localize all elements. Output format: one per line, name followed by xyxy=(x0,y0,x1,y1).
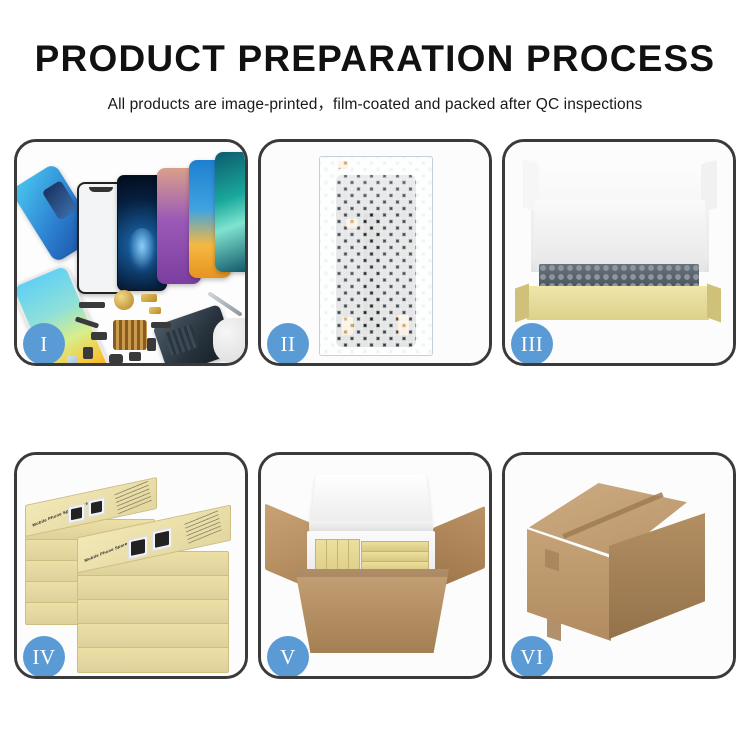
carton-tape-lower xyxy=(547,619,561,642)
step-panel-2: II xyxy=(258,139,492,366)
sim-tray-component xyxy=(129,352,141,361)
header: PRODUCT PREPARATION PROCESS All products… xyxy=(0,0,750,114)
screw-component xyxy=(83,347,93,359)
step-panel-6: VI xyxy=(502,452,736,679)
step-panel-5: V xyxy=(258,452,492,679)
step-badge-6: VI xyxy=(511,636,553,678)
gold-bracket-component xyxy=(149,307,161,314)
speaker-component xyxy=(114,290,134,310)
step-badge-5: V xyxy=(267,636,309,678)
battery-connector-component xyxy=(79,302,105,308)
stacked-box-front-5 xyxy=(77,647,229,673)
bubble-wrap-bag xyxy=(319,156,433,356)
inner-box-front-panel xyxy=(527,286,709,320)
box-window-front-1 xyxy=(128,535,148,559)
page-title: PRODUCT PREPARATION PROCESS xyxy=(0,40,750,77)
bubble-texture xyxy=(320,157,432,355)
box-stack: Mobile Phone Spare Parts Mobile Phone Sp… xyxy=(25,479,243,661)
step-badge-1: I xyxy=(23,323,65,365)
page-subtitle: All products are image-printed，film-coat… xyxy=(0,92,750,114)
step-panel-1: I xyxy=(14,139,248,366)
sensor-component xyxy=(67,356,77,363)
step-badge-3: III xyxy=(511,323,553,365)
box-window-front-2 xyxy=(152,527,172,551)
box-spec-text-front xyxy=(184,509,222,543)
box-spec-text-rear xyxy=(114,480,152,514)
taptic-component xyxy=(109,354,123,363)
carton-body xyxy=(295,569,449,653)
vibrator-component xyxy=(151,322,171,328)
gold-contact-component xyxy=(141,294,157,302)
step-panel-3: III xyxy=(502,139,736,366)
stacked-box-front-2 xyxy=(77,575,229,601)
flex-cable-component xyxy=(147,338,156,351)
camera-module-component xyxy=(91,332,107,340)
process-steps-grid: I II xyxy=(14,139,736,679)
step-badge-2: II xyxy=(267,323,309,365)
foam-liner xyxy=(535,200,705,272)
step-panel-4: Mobile Phone Spare Parts Mobile Phone Sp… xyxy=(14,452,248,679)
box-window-rear-2 xyxy=(88,497,105,518)
box-window-rear-1 xyxy=(68,503,85,524)
stacked-box-front-3 xyxy=(77,599,229,625)
step-badge-4: IV xyxy=(23,636,65,678)
product-preparation-infographic: PRODUCT PREPARATION PROCESS All products… xyxy=(0,0,750,750)
stacked-box-front-4 xyxy=(77,623,229,649)
logic-board-component xyxy=(113,320,147,350)
phone-display-teal xyxy=(215,152,245,272)
technician-hand xyxy=(213,318,245,363)
